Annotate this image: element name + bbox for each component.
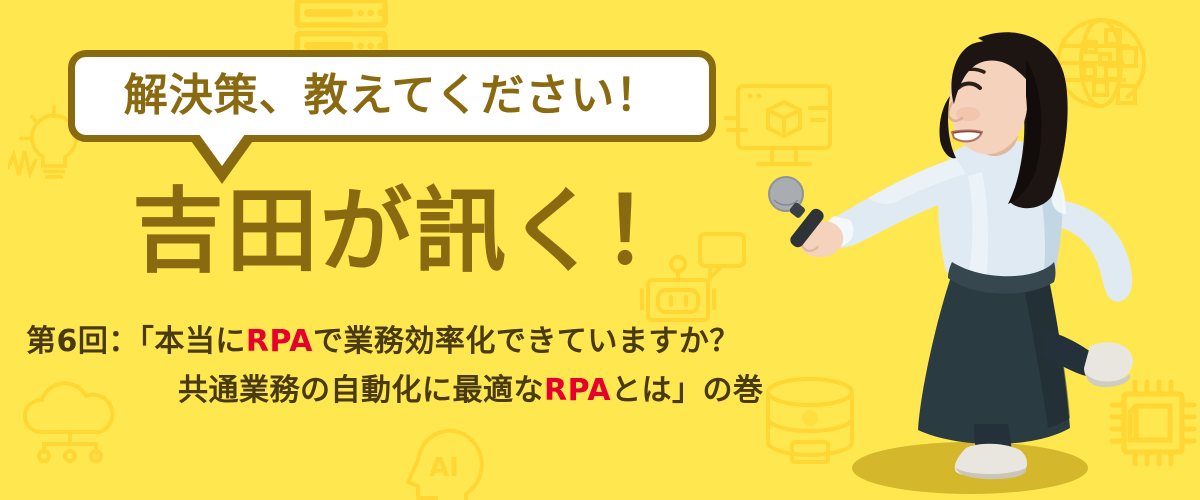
subtitle-line2-post: とは」の巻	[611, 373, 764, 408]
subtitle-line-1: 第6回：「本当にRPAで業務効率化できていますか？	[26, 318, 764, 367]
svg-text:AI: AI	[429, 453, 459, 483]
speech-bubble-text: 解決策、教えてください！	[124, 74, 660, 118]
speech-bubble-tail-fill	[196, 130, 248, 166]
episode-subtitle: 第6回：「本当にRPAで業務効率化できていますか？ 共通業務の自動化に最適なRP…	[26, 318, 764, 415]
subtitle-line2-highlight: RPA	[544, 373, 611, 408]
subtitle-line-2: 共通業務の自動化に最適なRPAとは」の巻	[26, 367, 764, 416]
interviewer-photo	[760, 0, 1200, 500]
subtitle-line1-post: で業務効率化できていますか？	[313, 324, 740, 359]
ai-head-icon: AI	[396, 424, 492, 500]
campaign-banner: AI	[0, 0, 1200, 500]
page-title: 吉田が訊く！	[132, 186, 696, 278]
speech-bubble: 解決策、教えてください！	[68, 50, 716, 142]
subtitle-line1-highlight: RPA	[246, 324, 313, 359]
subtitle-line2-pre: 共通業務の自動化に最適な	[178, 373, 544, 408]
subtitle-line1-pre: 第6回：「本当に	[26, 324, 246, 359]
